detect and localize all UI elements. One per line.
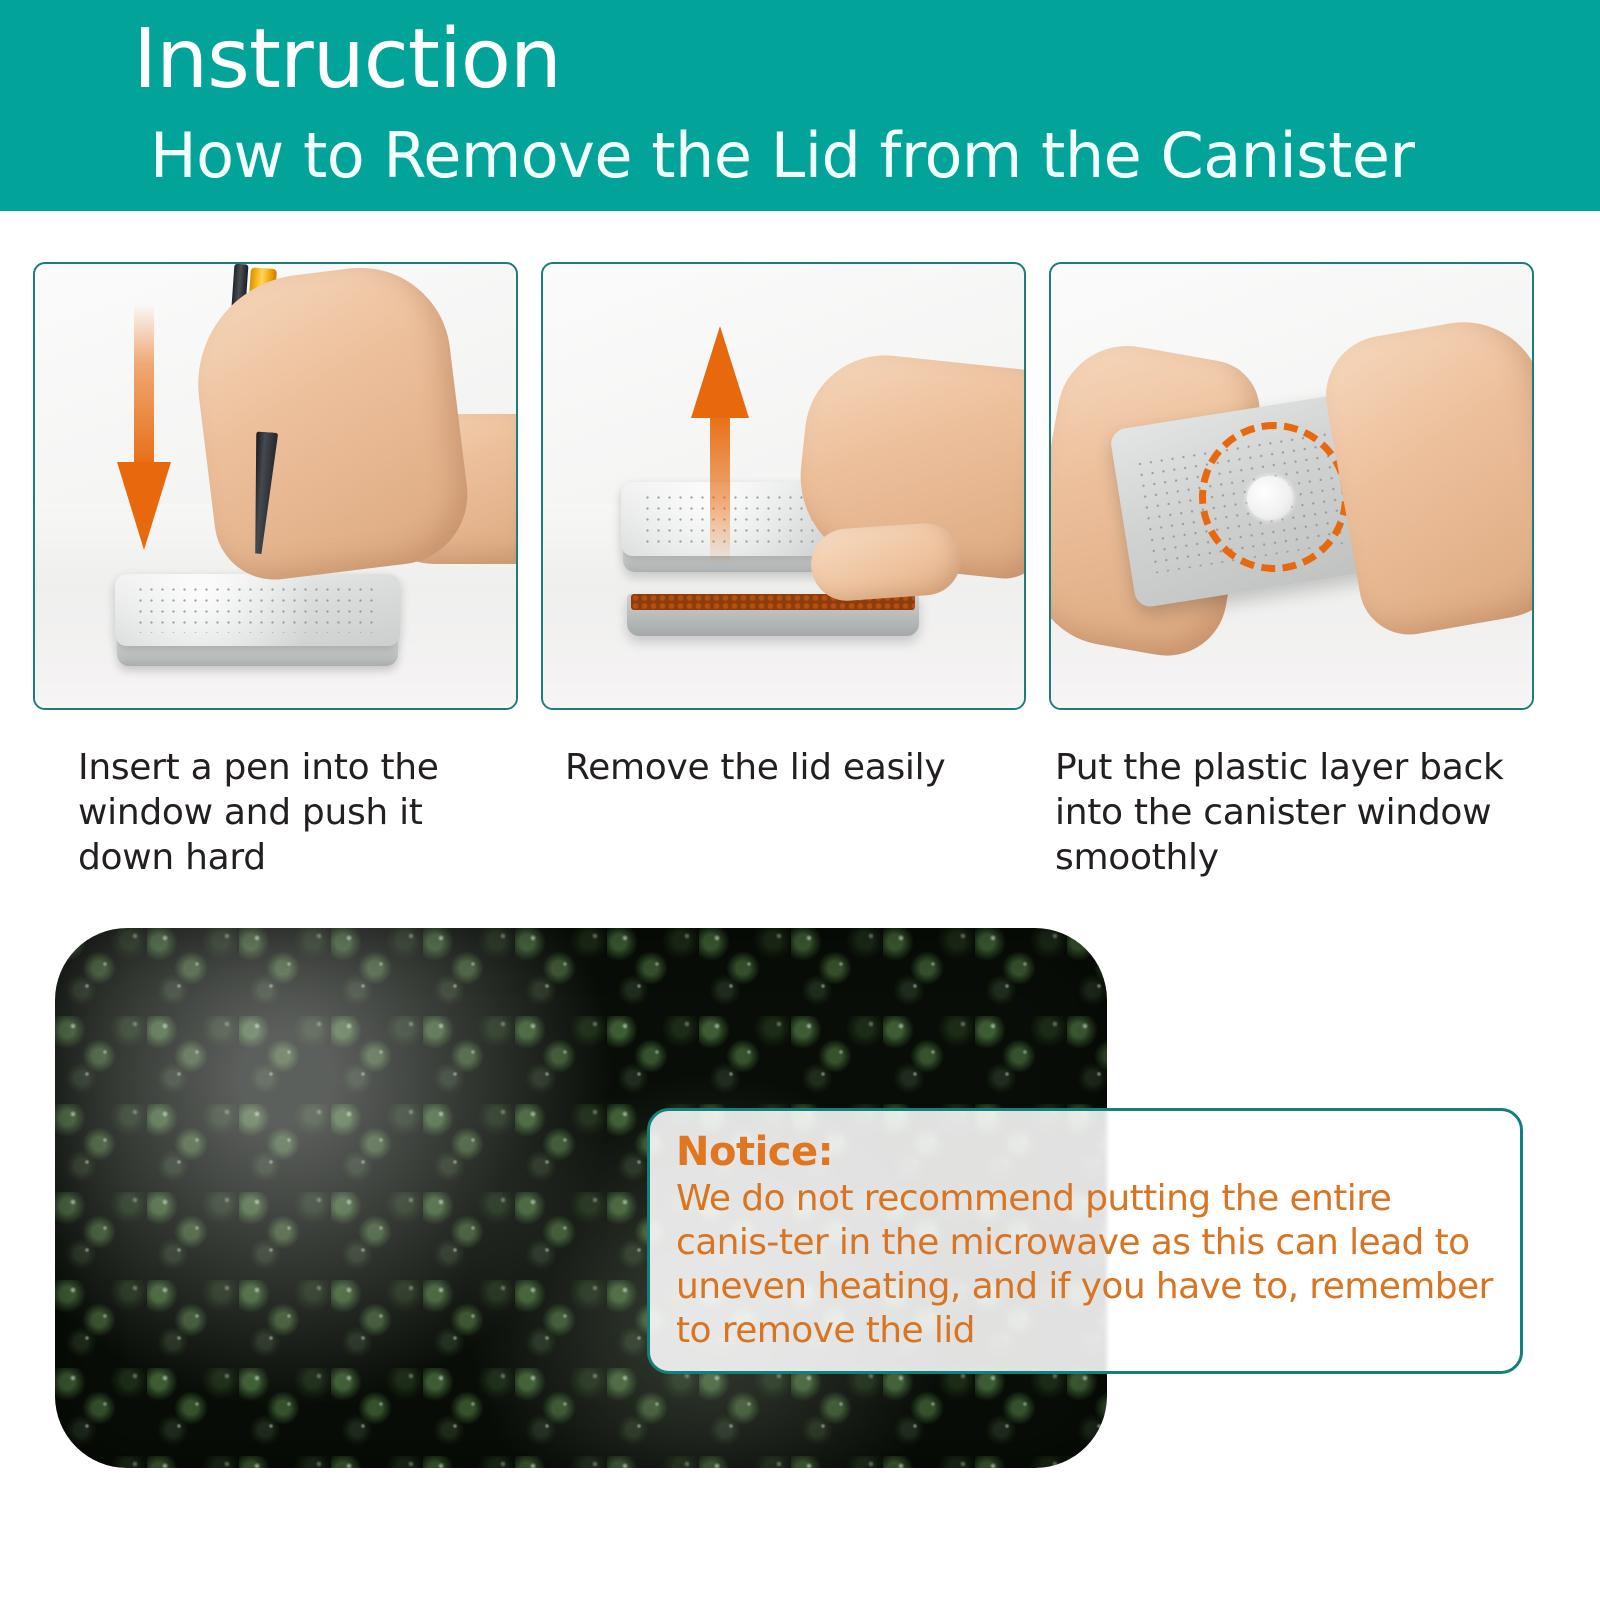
hand — [186, 262, 476, 586]
page-header: Instruction How to Remove the Lid from t… — [0, 0, 1600, 211]
step-3 — [1049, 262, 1534, 710]
step-2-photo — [541, 262, 1026, 710]
notice-body: We do not recommend putting the entire c… — [676, 1177, 1494, 1353]
thumb — [809, 521, 964, 603]
page-title: Instruction — [133, 14, 561, 106]
canister-lid — [115, 574, 400, 646]
step-1-photo — [33, 262, 518, 710]
step-1-caption: Insert a pen into the window and push it… — [78, 745, 508, 880]
instruction-page: Instruction How to Remove the Lid from t… — [0, 0, 1600, 1600]
lid-perforations — [135, 584, 380, 633]
step-3-photo — [1049, 262, 1534, 710]
up-arrow-icon — [691, 326, 749, 566]
step-3-caption: Put the plastic layer back into the cani… — [1055, 745, 1560, 880]
notice-box: Notice: We do not recommend putting the … — [647, 1108, 1523, 1374]
step-2-caption: Remove the lid easily — [565, 745, 1005, 790]
page-subtitle: How to Remove the Lid from the Canister — [150, 117, 1415, 195]
down-arrow-icon — [117, 304, 171, 549]
notice-title: Notice: — [676, 1129, 1494, 1175]
step-2 — [541, 262, 1026, 710]
step-panels — [0, 262, 1600, 712]
step-1 — [33, 262, 518, 710]
